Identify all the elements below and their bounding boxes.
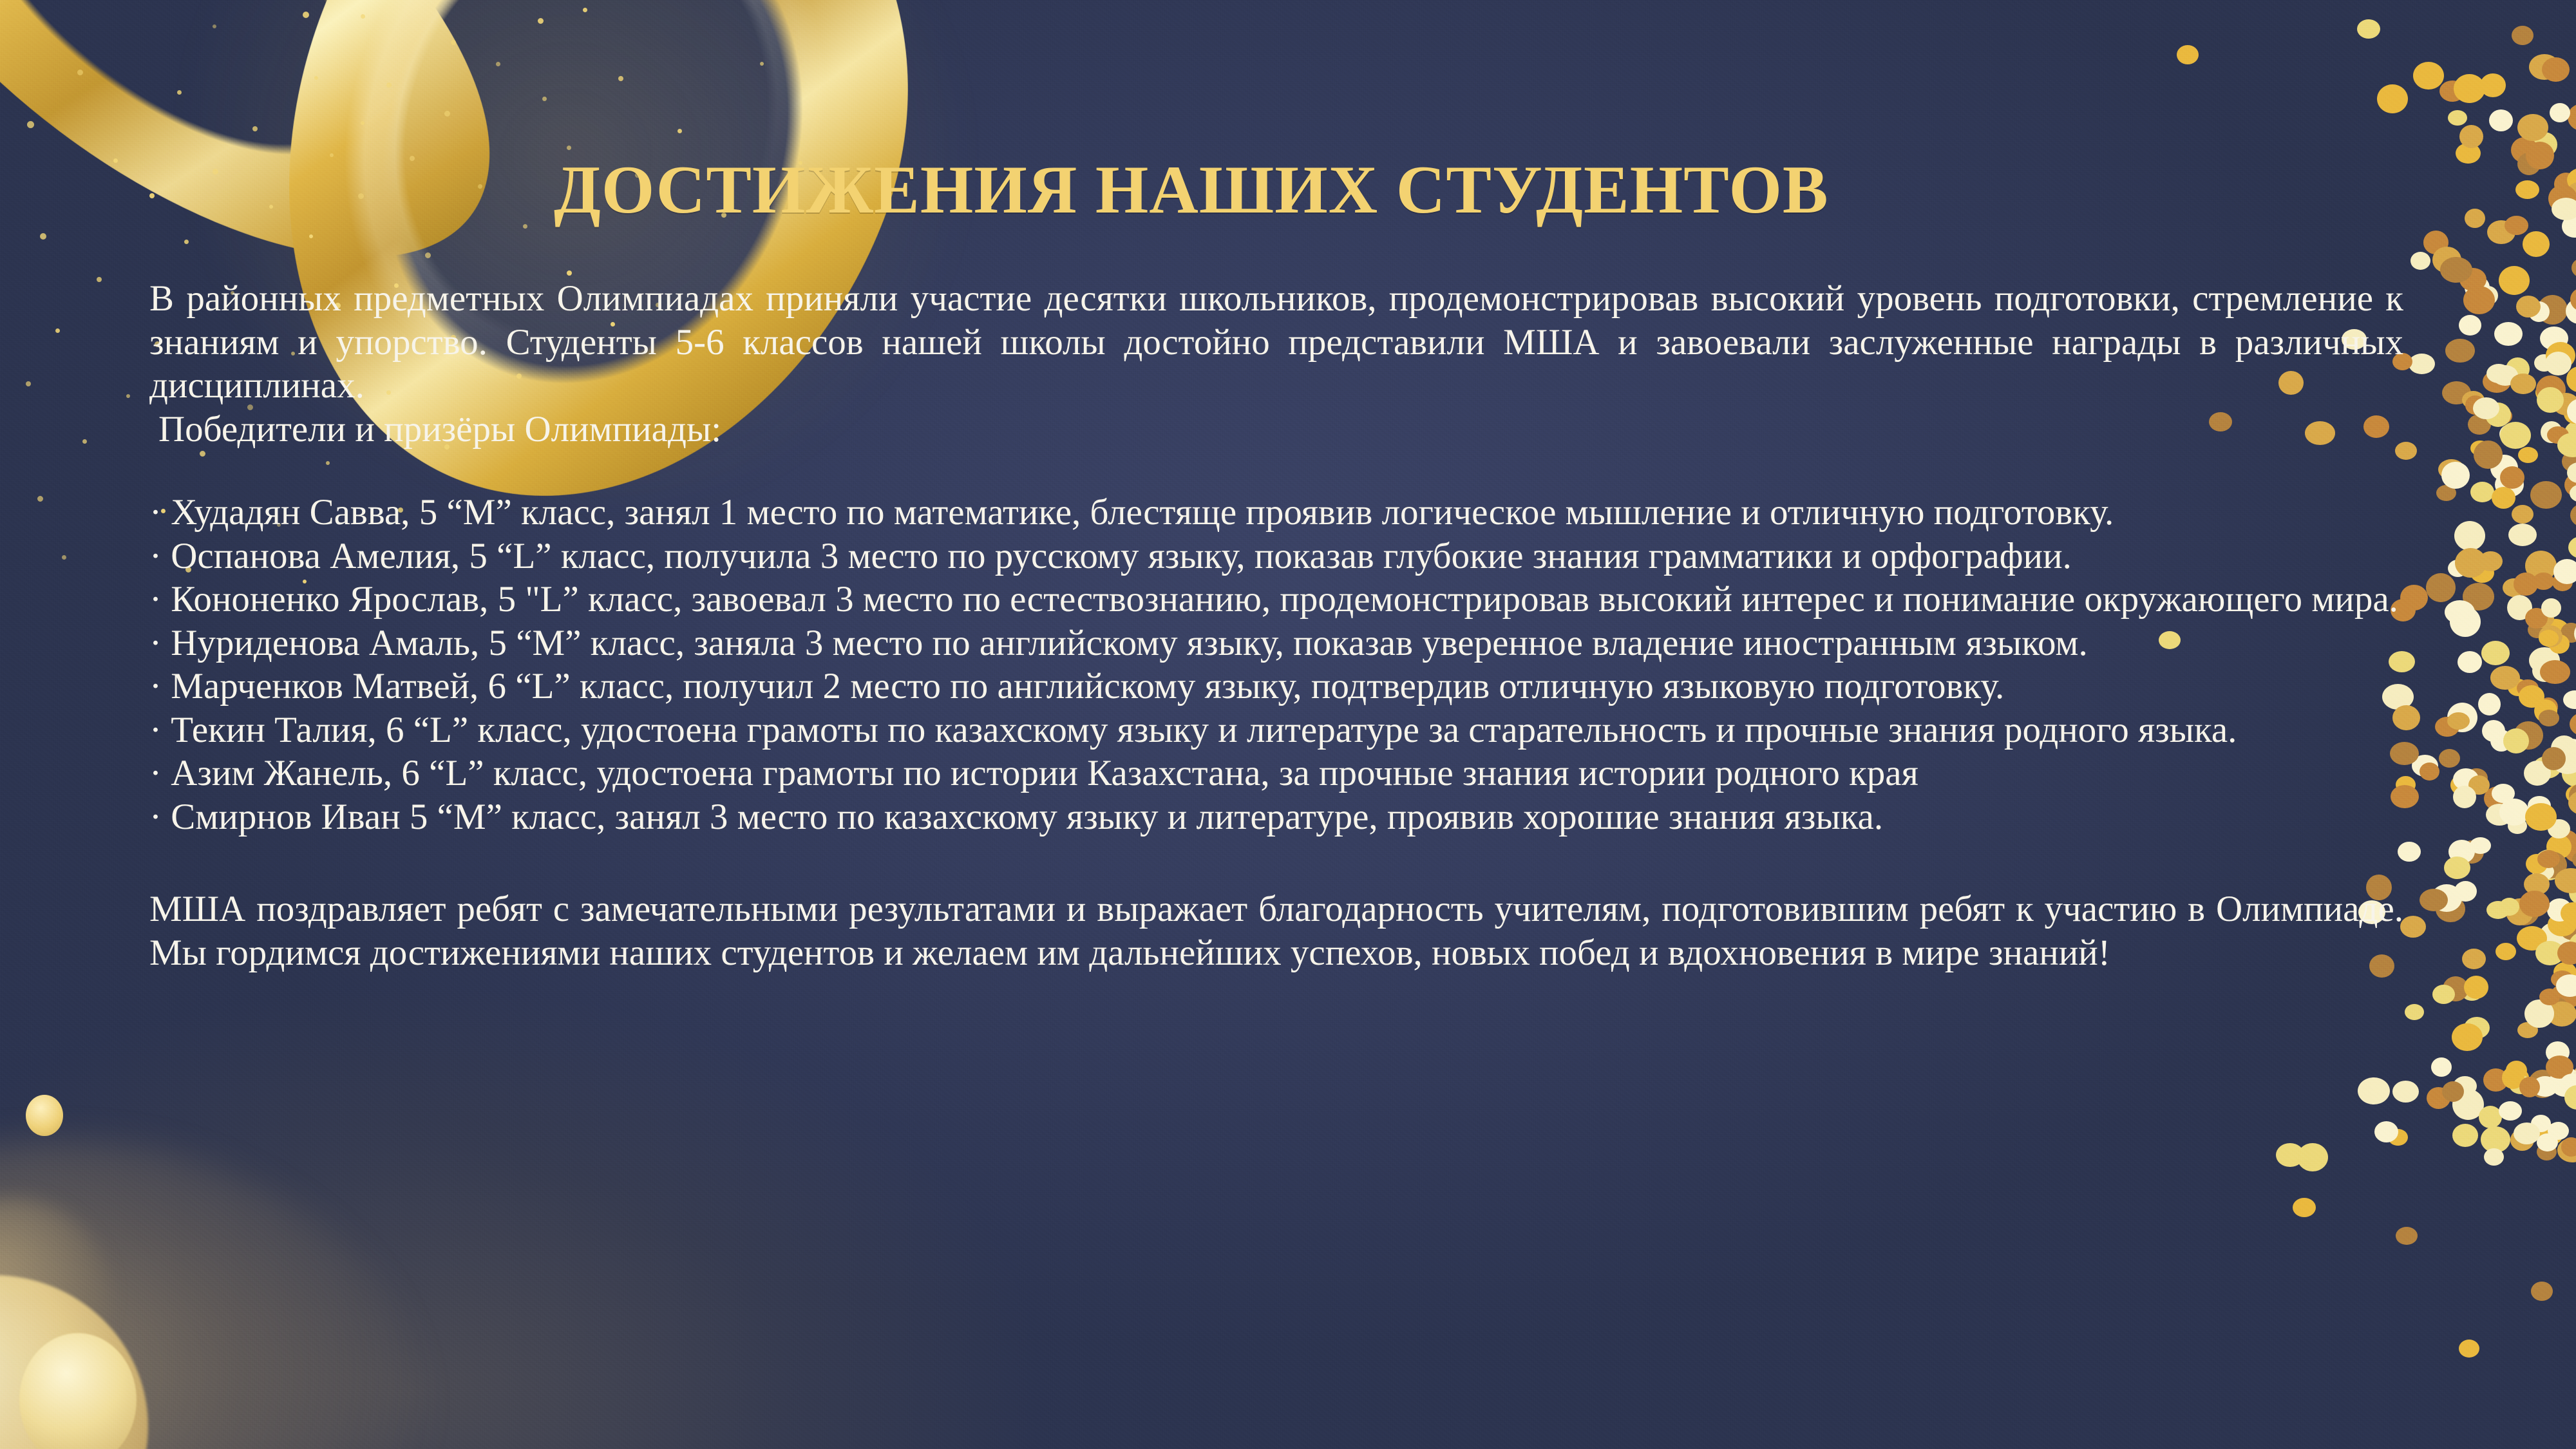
confetti-dot-icon	[2537, 387, 2564, 413]
confetti-dot-icon	[2573, 1065, 2576, 1086]
confetti-dot-icon	[2564, 840, 2576, 862]
confetti-dot-icon	[2495, 472, 2524, 497]
sparkle-dot-icon	[386, 82, 392, 88]
confetti-dot-icon	[2564, 1085, 2576, 1110]
confetti-dot-icon	[2548, 913, 2576, 936]
confetti-dot-icon	[2412, 755, 2438, 777]
confetti-dot-icon	[2505, 216, 2528, 235]
confetti-dot-icon	[2511, 137, 2538, 163]
confetti-dot-icon	[2462, 949, 2486, 969]
intro-paragraph: В районных предметных Олимпиадах приняли…	[149, 277, 2403, 408]
confetti-dot-icon	[2454, 74, 2485, 103]
sparkle-dot-icon	[82, 439, 87, 444]
confetti-dot-icon	[2479, 551, 2503, 571]
confetti-dot-icon	[2453, 1076, 2477, 1096]
confetti-dot-icon	[2486, 364, 2511, 383]
confetti-dot-icon	[2502, 1066, 2524, 1089]
confetti-dot-icon	[2557, 1138, 2576, 1162]
confetti-dot-icon	[2572, 851, 2576, 869]
sparkle-dot-icon	[77, 70, 83, 75]
sparkle-dot-icon	[252, 126, 258, 131]
presentation-slide: ДОСТИЖЕНИЯ НАШИХ СТУДЕНТОВ В районных пр…	[0, 0, 2576, 1449]
confetti-dot-icon	[2529, 54, 2560, 80]
sparkle-dot-icon	[361, 121, 365, 125]
confetti-dot-icon	[2494, 322, 2523, 346]
confetti-dot-icon	[2570, 504, 2576, 527]
confetti-dot-icon	[2276, 1143, 2304, 1167]
confetti-dot-icon	[2524, 761, 2551, 786]
confetti-dot-icon	[2570, 288, 2576, 311]
confetti-dot-icon	[2550, 1066, 2576, 1097]
confetti-dot-icon	[2568, 932, 2576, 962]
confetti-dot-icon	[2540, 660, 2570, 684]
winner-entry: · Азим Жанель, 6 “L” класс, удостоена гр…	[149, 752, 2403, 795]
confetti-dot-icon	[2553, 559, 2576, 584]
confetti-dot-icon	[2452, 1124, 2478, 1147]
confetti-dot-icon	[2358, 1077, 2390, 1104]
confetti-dot-icon	[2465, 276, 2490, 299]
confetti-dot-icon	[2564, 404, 2576, 424]
confetti-dot-icon	[2439, 80, 2465, 102]
confetti-dot-icon	[2470, 482, 2494, 502]
confetti-dot-icon	[2541, 421, 2562, 443]
sparkle-dot-icon	[213, 169, 218, 175]
confetti-dot-icon	[2442, 381, 2471, 404]
sparkle-dot-icon	[538, 18, 544, 24]
sparkle-dot-icon	[496, 62, 500, 66]
sparkle-dot-icon	[410, 156, 415, 161]
confetti-dot-icon	[2556, 974, 2576, 997]
confetti-dot-icon	[2506, 357, 2530, 381]
sparkle-dot-icon	[55, 328, 60, 333]
confetti-dot-icon	[2546, 1041, 2570, 1063]
confetti-dot-icon	[2539, 697, 2558, 716]
confetti-dot-icon	[2539, 989, 2560, 1005]
confetti-dot-icon	[2409, 354, 2435, 374]
sparkle-dot-icon	[40, 233, 46, 240]
confetti-dot-icon	[2571, 793, 2576, 812]
confetti-dot-icon	[2427, 1087, 2450, 1109]
confetti-dot-icon	[2459, 840, 2484, 864]
confetti-dot-icon	[2548, 1122, 2569, 1140]
confetti-dot-icon	[2377, 84, 2408, 113]
sparkle-dot-icon	[303, 12, 309, 18]
confetti-dot-icon	[2456, 143, 2481, 164]
confetti-dot-icon	[2492, 365, 2518, 386]
confetti-dot-icon	[2490, 455, 2518, 481]
confetti-dot-icon	[2572, 1065, 2576, 1095]
confetti-dot-icon	[2567, 168, 2576, 192]
sparkle-dot-icon	[62, 555, 66, 560]
sparkle-dot-icon	[314, 76, 318, 80]
confetti-dot-icon	[2566, 298, 2576, 324]
confetti-dot-icon	[2459, 268, 2486, 291]
confetti-dot-icon	[2388, 1129, 2408, 1146]
confetti-dot-icon	[2552, 198, 2576, 220]
confetti-dot-icon	[2547, 426, 2569, 444]
confetti-dot-icon	[2503, 728, 2529, 753]
confetti-dot-icon	[2405, 1004, 2424, 1020]
confetti-dot-icon	[2559, 913, 2576, 940]
sparkle-dot-icon	[760, 62, 764, 66]
confetti-dot-icon	[2478, 286, 2498, 305]
sparkle-dot-icon	[37, 496, 43, 502]
confetti-dot-icon	[2499, 266, 2530, 295]
confetti-dot-icon	[2561, 1137, 2576, 1157]
confetti-dot-icon	[2410, 252, 2430, 270]
sparkle-dot-icon	[523, 224, 527, 229]
confetti-dot-icon	[2546, 1056, 2573, 1079]
confetti-dot-icon	[2459, 315, 2481, 336]
confetti-dot-icon	[2566, 785, 2576, 804]
confetti-dot-icon	[2569, 881, 2576, 905]
sparkle-dot-icon	[451, 40, 456, 45]
confetti-dot-icon	[2553, 962, 2576, 982]
sparkle-dot-icon	[330, 153, 334, 157]
confetti-dot-icon	[2541, 619, 2571, 649]
sparkle-dot-icon	[583, 8, 587, 12]
confetti-dot-icon	[2499, 1101, 2522, 1121]
confetti-dot-icon	[2508, 1068, 2529, 1086]
confetti-dot-icon	[2514, 573, 2538, 596]
confetti-dot-icon	[2423, 231, 2448, 254]
confetti-dot-icon	[2537, 1143, 2557, 1160]
confetti-dot-icon	[2357, 19, 2380, 39]
confetti-dot-icon	[2459, 1340, 2479, 1358]
confetti-dot-icon	[2531, 1282, 2553, 1301]
confetti-dot-icon	[2571, 258, 2576, 278]
confetti-dot-icon	[2489, 109, 2513, 131]
sparkle-dot-icon	[213, 24, 216, 28]
confetti-dot-icon	[2450, 607, 2481, 637]
confetti-dot-icon	[2464, 976, 2488, 999]
confetti-dot-icon	[2450, 773, 2480, 797]
confetti-dot-icon	[2561, 902, 2576, 924]
winners-subheading: Победители и призёры Олимпиады:	[149, 408, 2403, 451]
confetti-dot-icon	[2545, 997, 2568, 1016]
confetti-dot-icon	[2465, 209, 2485, 228]
sparkle-dot-icon	[618, 76, 623, 81]
confetti-dot-icon	[2526, 854, 2548, 874]
confetti-dot-icon	[2420, 762, 2439, 781]
confetti-dot-icon	[2519, 1077, 2540, 1097]
confetti-dot-icon	[2551, 971, 2573, 988]
confetti-dot-icon	[2524, 999, 2554, 1028]
winner-entry: · Кононенко Ярослав, 5 "L” класс, завоев…	[149, 578, 2403, 621]
confetti-dot-icon	[2439, 749, 2460, 768]
confetti-dot-icon	[2431, 884, 2462, 912]
confetti-dot-icon	[2486, 901, 2510, 919]
confetti-dot-icon	[2499, 799, 2529, 826]
confetti-dot-icon	[2525, 803, 2557, 831]
sparkle-dot-icon	[677, 129, 682, 133]
confetti-dot-icon	[2435, 717, 2459, 737]
sparkle-dot-icon	[542, 97, 547, 101]
spacer	[149, 451, 2403, 491]
confetti-dot-icon	[2564, 473, 2576, 497]
confetti-dot-icon	[2484, 786, 2512, 811]
confetti-dot-icon	[2525, 608, 2548, 629]
winner-entry: · Нуриденова Амаль, 5 “М” класс, заняла …	[149, 621, 2403, 665]
confetti-dot-icon	[2432, 247, 2461, 273]
confetti-dot-icon	[2537, 295, 2568, 325]
confetti-dot-icon	[2568, 790, 2576, 815]
confetti-dot-icon	[2297, 1143, 2328, 1171]
confetti-dot-icon	[2431, 1057, 2452, 1077]
confetti-dot-icon	[2490, 730, 2512, 752]
confetti-dot-icon	[2458, 651, 2482, 673]
confetti-dot-icon	[2535, 383, 2560, 402]
confetti-dot-icon	[2484, 1148, 2504, 1166]
confetti-dot-icon	[2459, 125, 2483, 148]
confetti-dot-icon	[2453, 786, 2476, 808]
confetti-dot-icon	[2548, 185, 2576, 213]
confetti-dot-icon	[2426, 573, 2456, 602]
confetti-dot-icon	[2539, 710, 2559, 726]
confetti-dot-icon	[2470, 837, 2491, 854]
confetti-dot-icon	[2400, 585, 2428, 611]
confetti-dot-icon	[2562, 761, 2576, 787]
confetti-dot-icon	[2539, 625, 2562, 647]
winner-entry: · Худадян Савва, 5 “М” класс, занял 1 ме…	[149, 491, 2403, 535]
confetti-dot-icon	[2515, 180, 2539, 199]
confetti-dot-icon	[2487, 220, 2515, 244]
confetti-dot-icon	[2509, 1075, 2533, 1094]
confetti-dot-icon	[2483, 370, 2511, 393]
confetti-dot-icon	[2468, 775, 2490, 795]
confetti-dot-icon	[2534, 699, 2557, 723]
confetti-dot-icon	[2528, 796, 2551, 815]
confetti-dot-icon	[2553, 393, 2576, 415]
confetti-dot-icon	[2512, 26, 2533, 45]
confetti-dot-icon	[2482, 720, 2505, 742]
confetti-dot-icon	[2420, 889, 2448, 911]
sparkle-dot-icon	[361, 14, 365, 19]
confetti-dot-icon	[2528, 621, 2547, 638]
confetti-dot-icon	[2547, 898, 2572, 922]
confetti-dot-icon	[2461, 984, 2483, 1001]
confetti-dot-icon	[2545, 352, 2571, 375]
confetti-dot-icon	[2566, 366, 2576, 392]
confetti-dot-icon	[2293, 1198, 2316, 1217]
gold-orb-medium-icon	[19, 1333, 137, 1449]
confetti-dot-icon	[2468, 414, 2491, 435]
confetti-dot-icon	[2550, 103, 2570, 122]
confetti-dot-icon	[2462, 391, 2485, 409]
confetti-dot-icon	[2514, 721, 2543, 750]
confetti-dot-icon	[2552, 747, 2576, 774]
confetti-dot-icon	[2486, 804, 2513, 826]
confetti-dot-icon	[2542, 747, 2566, 770]
confetti-dot-icon	[2506, 1061, 2527, 1080]
confetti-dot-icon	[2374, 1121, 2398, 1142]
confetti-dot-icon	[2443, 976, 2468, 1001]
confetti-dot-icon	[2447, 703, 2477, 732]
spacer	[149, 838, 2403, 887]
confetti-dot-icon	[2481, 641, 2510, 665]
confetti-dot-icon	[2485, 402, 2511, 427]
confetti-dot-icon	[2562, 215, 2576, 238]
confetti-dot-icon	[2531, 1115, 2551, 1132]
sparkle-dot-icon	[97, 277, 102, 282]
confetti-dot-icon	[2519, 891, 2550, 917]
confetti-dot-icon	[2463, 286, 2495, 314]
confetti-dot-icon	[2541, 598, 2561, 618]
confetti-dot-icon	[2448, 840, 2475, 864]
sparkle-dot-icon	[358, 193, 364, 199]
confetti-dot-icon	[2557, 433, 2576, 457]
winner-entry: · Марченков Матвей, 6 “L” класс, получил…	[149, 665, 2403, 708]
confetti-dot-icon	[2532, 132, 2557, 157]
confetti-dot-icon	[2517, 114, 2548, 141]
confetti-dot-icon	[2479, 1106, 2502, 1128]
confetti-dot-icon	[2509, 898, 2539, 925]
confetti-dot-icon	[2492, 784, 2515, 803]
confetti-dot-icon	[2438, 459, 2465, 480]
confetti-dot-icon	[2546, 835, 2571, 859]
confetti-dot-icon	[2523, 231, 2550, 257]
confetti-dot-icon	[2448, 560, 2468, 577]
confetti-dot-icon	[2532, 863, 2554, 880]
confetti-dot-icon	[2517, 1022, 2538, 1038]
sparkle-dot-icon	[149, 193, 155, 198]
confetti-dot-icon	[2470, 563, 2494, 583]
confetti-dot-icon	[2533, 756, 2561, 779]
confetti-dot-icon	[2532, 659, 2557, 682]
confetti-dot-icon	[2452, 1023, 2483, 1051]
outro-paragraph: МША поздравляет ребят с замечательными р…	[149, 887, 2403, 974]
confetti-dot-icon	[2500, 466, 2524, 489]
confetti-dot-icon	[2550, 983, 2576, 1009]
sparkle-dot-icon	[26, 381, 31, 386]
sparkle-dot-icon	[567, 146, 571, 150]
confetti-dot-icon	[2532, 1076, 2558, 1097]
confetti-dot-icon	[2480, 73, 2506, 97]
confetti-dot-icon	[2551, 735, 2576, 761]
confetti-dot-icon	[2413, 62, 2444, 90]
confetti-dot-icon	[2508, 679, 2528, 696]
confetti-dot-icon	[2560, 739, 2576, 761]
confetti-dot-icon	[2499, 898, 2519, 916]
confetti-dot-icon	[2560, 1074, 2576, 1095]
confetti-dot-icon	[2548, 819, 2570, 838]
confetti-dot-icon	[2539, 922, 2570, 954]
confetti-dot-icon	[2436, 485, 2456, 501]
confetti-dot-icon	[2552, 573, 2573, 591]
confetti-dot-icon	[2554, 173, 2576, 196]
confetti-dot-icon	[2535, 941, 2564, 965]
confetti-dot-icon	[2508, 524, 2537, 546]
confetti-dot-icon	[2539, 630, 2559, 647]
confetti-dot-icon	[2512, 505, 2533, 524]
confetti-dot-icon	[2495, 943, 2516, 960]
confetti-dot-icon	[2392, 1081, 2419, 1103]
confetti-dot-icon	[2478, 693, 2501, 715]
confetti-dot-icon	[2537, 1133, 2558, 1151]
confetti-dot-icon	[2432, 985, 2455, 1004]
sparkle-dot-icon	[567, 270, 572, 276]
confetti-dot-icon	[2177, 45, 2199, 64]
confetti-dot-icon	[2452, 1089, 2484, 1120]
confetti-dot-icon	[2549, 634, 2570, 654]
confetti-dot-icon	[2568, 536, 2576, 558]
confetti-dot-icon	[2530, 609, 2554, 628]
confetti-dot-icon	[2567, 462, 2576, 483]
confetti-dot-icon	[2490, 666, 2520, 690]
confetti-dot-icon	[2510, 1129, 2534, 1151]
confetti-dot-icon	[2555, 830, 2576, 849]
gold-glow-blob-icon	[0, 1140, 431, 1449]
confetti-dot-icon	[2564, 421, 2576, 445]
confetti-dot-icon	[2533, 573, 2554, 590]
confetti-dot-icon	[2534, 354, 2554, 372]
confetti-dot-icon	[2519, 685, 2544, 708]
confetti-dot-icon	[2400, 916, 2426, 938]
confetti-dot-icon	[2525, 551, 2557, 581]
confetti-dot-icon	[2444, 857, 2470, 879]
confetti-dot-icon	[2442, 1081, 2464, 1102]
confetti-dot-icon	[2539, 1124, 2563, 1145]
confetti-dot-icon	[2562, 451, 2576, 472]
confetti-dot-icon	[2474, 440, 2503, 469]
confetti-dot-icon	[2463, 583, 2494, 611]
sparkle-dot-icon	[184, 240, 189, 244]
confetti-dot-icon	[2441, 462, 2470, 489]
confetti-dot-icon	[2542, 57, 2570, 82]
winner-entry: · Текин Талия, 6 “L” класс, удостоена гр…	[149, 708, 2403, 752]
confetti-dot-icon	[2536, 375, 2566, 404]
confetti-dot-icon	[2526, 142, 2554, 169]
confetti-dot-icon	[2454, 521, 2485, 551]
confetti-dot-icon	[2570, 712, 2576, 736]
confetti-dot-icon	[2530, 481, 2562, 509]
confetti-dot-icon	[2448, 110, 2467, 126]
confetti-dot-icon	[2481, 1126, 2510, 1153]
confetti-dot-icon	[2445, 339, 2475, 363]
sparkle-dot-icon	[425, 252, 431, 258]
sparkle-dot-icon	[478, 184, 482, 189]
confetti-dot-icon	[2517, 679, 2539, 697]
confetti-dot-icon	[2465, 395, 2485, 415]
sparkle-dot-icon	[177, 90, 182, 95]
confetti-dot-icon	[2535, 851, 2567, 878]
confetti-dot-icon	[2465, 768, 2488, 788]
confetti-dot-icon	[2517, 153, 2541, 175]
confetti-dot-icon	[2500, 422, 2531, 449]
confetti-dot-icon	[2529, 647, 2560, 674]
sparkle-dot-icon	[126, 394, 130, 398]
confetti-dot-icon	[2514, 1122, 2540, 1144]
confetti-dot-icon	[2524, 873, 2550, 895]
confetti-dot-icon	[2473, 397, 2499, 419]
confetti-dot-icon	[2440, 257, 2472, 283]
sparkle-dot-icon	[269, 205, 273, 209]
sparkle-dot-icon	[113, 158, 118, 163]
confetti-dot-icon	[2516, 296, 2541, 317]
confetti-dot-icon	[2563, 690, 2576, 709]
gold-orb-small-icon	[26, 1095, 63, 1136]
confetti-dot-icon	[2557, 942, 2576, 965]
confetti-dot-icon	[2507, 595, 2532, 620]
confetti-dot-icon	[2547, 1001, 2576, 1027]
confetti-dot-icon	[2567, 214, 2576, 232]
sparkle-dot-icon	[309, 234, 313, 238]
confetti-dot-icon	[2453, 768, 2479, 790]
confetti-dot-icon	[2483, 1068, 2508, 1092]
confetti-dot-icon	[2445, 600, 2475, 624]
sparkle-dot-icon	[27, 121, 34, 128]
confetti-dot-icon	[2492, 408, 2512, 424]
